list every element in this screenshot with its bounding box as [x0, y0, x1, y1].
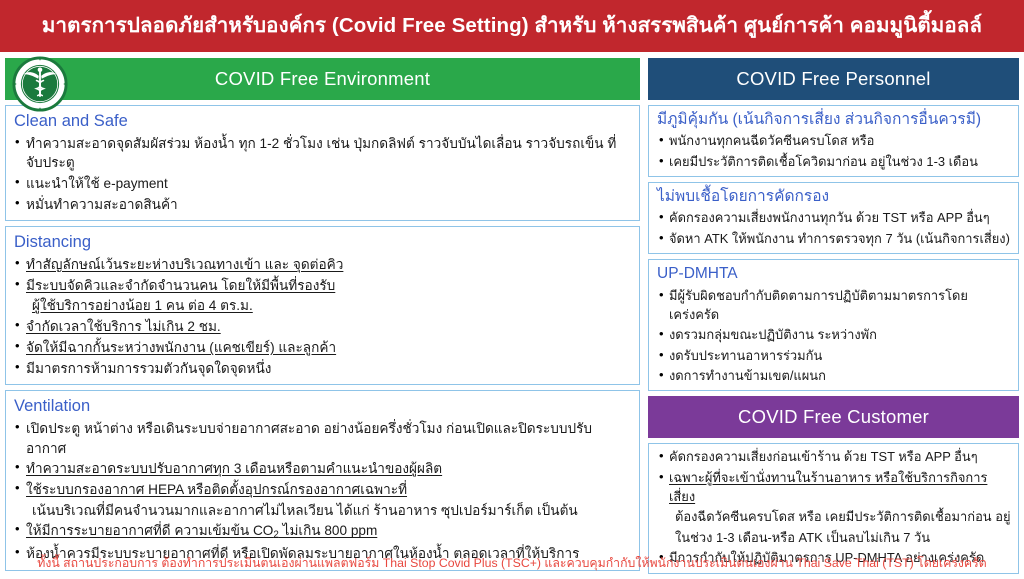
panel-item-list: คัดกรองความเสี่ยงก่อนเข้าร้าน ด้วย TST ห…: [657, 447, 1011, 567]
list-item-underlined-text: ให้มีการระบายอากาศที่ดี ความเข้มข้น CO2 …: [26, 523, 377, 538]
list-item: แนะนำให้ใช้ e-payment: [14, 174, 631, 194]
list-item: มีผู้รับผิดชอบกำกับติดตามการปฏิบัติตามมา…: [657, 286, 1011, 325]
panel-item-list: พนักงานทุกคนฉีดวัคซีนครบโดส หรือ เคยมีปร…: [657, 131, 1011, 171]
list-item: ให้มีการระบายอากาศที่ดี ความเข้มข้น CO2 …: [14, 521, 631, 543]
list-item: คัดกรองความเสี่ยงก่อนเข้าร้าน ด้วย TST ห…: [657, 447, 1011, 466]
panel-heading: UP-DMHTA: [657, 264, 1011, 283]
personnel-band-label: COVID Free Personnel: [736, 70, 930, 89]
panel-heading: Clean and Safe: [14, 111, 631, 132]
panel-item-list: ทำความสะอาดจุดสัมผัสร่วม ห้องน้ำ ทุก 1-2…: [14, 134, 631, 215]
panel-item-list: เปิดประตู หน้าต่าง หรือเดินระบบจ่ายอากาศ…: [14, 419, 631, 564]
list-item: ทำสัญลักษณ์เว้นระยะห่างบริเวณทางเข้า และ…: [14, 255, 631, 275]
ministry-of-public-health-seal-icon: [11, 55, 69, 113]
environment-column: COVID Free Environment Clean and Safe ทำ…: [5, 58, 640, 576]
panel-item-list: ทำสัญลักษณ์เว้นระยะห่างบริเวณทางเข้า และ…: [14, 255, 631, 378]
panel-item-list: มีผู้รับผิดชอบกำกับติดตามการปฏิบัติตามมา…: [657, 286, 1011, 386]
panel-up-dmhta: UP-DMHTA มีผู้รับผิดชอบกำกับติดตามการปฏิ…: [648, 259, 1019, 391]
personnel-customer-column: COVID Free Personnel มีภูมิคุ้มกัน (เน้น…: [648, 58, 1019, 579]
panel-ventilation: Ventilation เปิดประตู หน้าต่าง หรือเดินร…: [5, 390, 640, 570]
panel-clean-and-safe: Clean and Safe ทำความสะอาดจุดสัมผัสร่วม …: [5, 105, 640, 221]
list-item: ทำความสะอาดระบบปรับอากาศทุก 3 เดือนหรือต…: [14, 459, 631, 479]
list-item: งดรับประทานอาหารร่วมกัน: [657, 346, 1011, 365]
document-title-bar: มาตรการปลอดภัยสำหรับองค์กร (Covid Free S…: [0, 0, 1024, 52]
panel-heading: ไม่พบเชื้อโดยการคัดกรอง: [657, 187, 1011, 206]
list-item: เปิดประตู หน้าต่าง หรือเดินระบบจ่ายอากาศ…: [14, 419, 631, 458]
list-item: เคยมีประวัติการติดเชื้อโควิดมาก่อน อยู่ใ…: [657, 152, 1011, 171]
list-item: ผู้ใช้บริการอย่างน้อย 1 คน ต่อ 4 ตร.ม.: [14, 296, 631, 316]
environment-band-label: COVID Free Environment: [215, 70, 430, 89]
panel-heading: Distancing: [14, 232, 631, 253]
list-item: งดการทำงานข้ามเขต/แผนก: [657, 366, 1011, 385]
list-item: ต้องฉีดวัคซีนครบโดส หรือ เคยมีประวัติการ…: [657, 507, 1011, 526]
list-item: หมั่นทำความสะอาดสินค้า: [14, 195, 631, 215]
footer-note: ทั้งนี้ สถานประกอบการ ต้องทำการประเมินตน…: [0, 556, 1024, 571]
list-item: เน้นบริเวณที่มีคนจำนวนมากและอากาศไม่ไหลเ…: [14, 501, 631, 521]
panel-customer: คัดกรองความเสี่ยงก่อนเข้าร้าน ด้วย TST ห…: [648, 443, 1019, 573]
list-item: ในช่วง 1-3 เดือน-หรือ ATK เป็นลบไม่เกิน …: [657, 528, 1011, 547]
list-item: จัดให้มีฉากกั้นระหว่างพนักงาน (แคชเขียร์…: [14, 338, 631, 358]
list-item: ใช้ระบบกรองอากาศ HEPA หรือติดตั้งอุปกรณ์…: [14, 480, 631, 500]
page-title: มาตรการปลอดภัยสำหรับองค์กร (Covid Free S…: [42, 16, 982, 37]
list-item: มีระบบจัดคิวและจำกัดจำนวนคน โดยให้มีพื้น…: [14, 276, 631, 296]
panel-heading: มีภูมิคุ้มกัน (เน้นกิจการเสี่ยง ส่วนกิจก…: [657, 110, 1011, 129]
panel-distancing: Distancing ทำสัญลักษณ์เว้นระยะห่างบริเวณ…: [5, 226, 640, 385]
list-item: มีมาตรการห้ามการรวมตัวกันจุดใดจุดหนึ่ง: [14, 359, 631, 379]
panel-immunity: มีภูมิคุ้มกัน (เน้นกิจการเสี่ยง ส่วนกิจก…: [648, 105, 1019, 177]
panel-item-list: คัดกรองความเสี่ยงพนักงานทุกวัน ด้วย TST …: [657, 208, 1011, 248]
list-item: เฉพาะผู้ที่จะเข้านั่งทานในร้านอาหาร หรือ…: [657, 468, 1011, 507]
personnel-band-header: COVID Free Personnel: [648, 58, 1019, 100]
list-item: พนักงานทุกคนฉีดวัคซีนครบโดส หรือ: [657, 131, 1011, 150]
environment-band-header: COVID Free Environment: [5, 58, 640, 100]
list-item: ทำความสะอาดจุดสัมผัสร่วม ห้องน้ำ ทุก 1-2…: [14, 134, 631, 173]
customer-band-label: COVID Free Customer: [738, 408, 929, 427]
panel-screening: ไม่พบเชื้อโดยการคัดกรอง คัดกรองความเสี่ย…: [648, 182, 1019, 254]
list-item: คัดกรองความเสี่ยงพนักงานทุกวัน ด้วย TST …: [657, 208, 1011, 227]
list-item: จัดหา ATK ให้พนักงาน ทำการตรวจทุก 7 วัน …: [657, 229, 1011, 248]
list-item: จำกัดเวลาใช้บริการ ไม่เกิน 2 ชม.: [14, 317, 631, 337]
panel-heading: Ventilation: [14, 396, 631, 417]
customer-band-header: COVID Free Customer: [648, 396, 1019, 438]
list-item: งดรวมกลุ่มขณะปฏิบัติงาน ระหว่างพัก: [657, 325, 1011, 344]
